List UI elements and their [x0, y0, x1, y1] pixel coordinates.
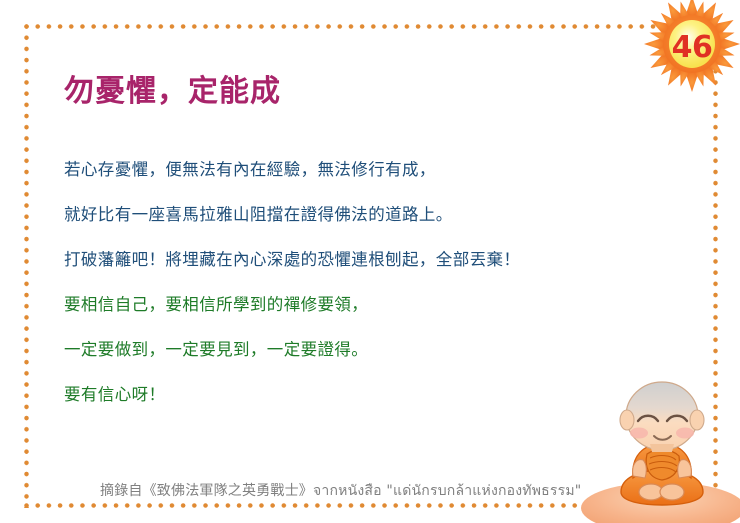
- monk-arm-right: [678, 460, 692, 478]
- border-dots-left: [24, 24, 29, 508]
- body-line: 若心存憂懼，便無法有內在經驗，無法修行有成，: [64, 162, 664, 207]
- page-title: 勿憂懼，定能成: [64, 66, 281, 110]
- sun-burst-badge: 46: [640, 0, 740, 98]
- meditating-monk-illustration: [575, 368, 740, 523]
- monk-neck: [650, 444, 674, 452]
- body-line: 一定要做到，一定要見到，一定要證得。: [64, 342, 664, 387]
- slide-canvas: 46 勿憂懼，定能成 若心存憂懼，便無法有內在經驗，無法修行有成， 就好比有一座…: [0, 0, 740, 523]
- footer-credit: 摘錄自《致佛法軍隊之英勇戰士》จากหนังสือ "แด่นักรบกล้าแ…: [100, 480, 581, 502]
- page-number-badge-label: 46: [640, 0, 740, 98]
- monk-ear-left: [620, 410, 634, 430]
- body-line: 打破藩籬吧！將埋藏在內心深處的恐懼連根刨起，全部丟棄！: [64, 252, 664, 297]
- body-text-block: 若心存憂懼，便無法有內在經驗，無法修行有成， 就好比有一座喜馬拉雅山阻擋在證得佛…: [64, 162, 664, 432]
- monk-icon: [575, 368, 740, 523]
- monk-cheek-right: [676, 428, 694, 439]
- monk-foot-right: [660, 484, 684, 500]
- monk-ear-right: [690, 410, 704, 430]
- body-line: 要有信心呀！: [64, 387, 664, 432]
- body-line: 要相信自己，要相信所學到的禪修要領，: [64, 297, 664, 342]
- monk-cheek-left: [630, 428, 648, 439]
- border-dots-top: [24, 24, 714, 29]
- monk-arm-left: [633, 460, 647, 478]
- body-line: 就好比有一座喜馬拉雅山阻擋在證得佛法的道路上。: [64, 207, 664, 252]
